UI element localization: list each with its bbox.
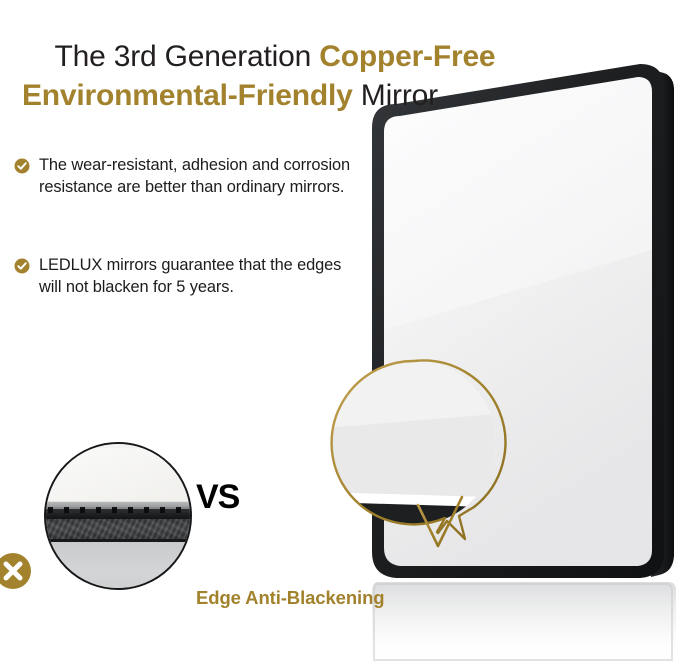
check-circle-icon <box>14 158 30 174</box>
feature-bullet: LEDLUX mirrors guarantee that the edges … <box>14 255 359 298</box>
x-circle-icon <box>0 552 32 590</box>
vs-label: VS <box>196 480 239 514</box>
product-infographic: The 3rd Generation Copper-Free Environme… <box>0 0 679 665</box>
comparison-caption: Edge Anti-Blackening <box>196 588 385 608</box>
mirror-reflection <box>372 582 676 660</box>
feature-bullet-text: LEDLUX mirrors guarantee that the edges … <box>39 255 359 298</box>
callout-pointer <box>418 497 462 546</box>
feature-bullet-text: The wear-resistant, adhesion and corrosi… <box>39 155 359 198</box>
check-circle-icon <box>14 258 30 274</box>
ordinary-mirror-photo <box>44 442 192 590</box>
magnified-mirror-corner <box>248 350 520 530</box>
feature-bullet: The wear-resistant, adhesion and corrosi… <box>14 155 359 198</box>
title-part-plain-2: Mirror <box>361 79 438 112</box>
page-title: The 3rd Generation Copper-Free Environme… <box>22 0 662 154</box>
title-part-plain-1: The 3rd Generation <box>55 40 320 73</box>
callout-bubble-outline <box>332 360 506 539</box>
